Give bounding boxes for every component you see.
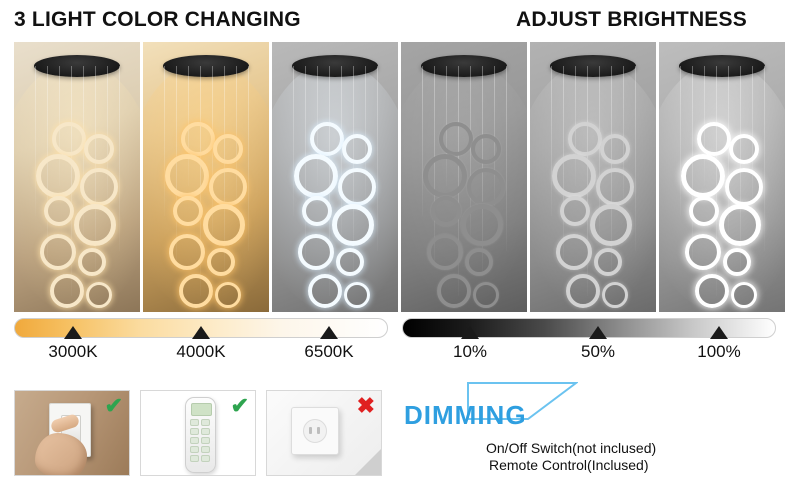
dimming-caption-remote: Remote Control(Inclused) [489,457,649,473]
panel-50-percent [530,42,656,312]
panel-6500k [272,42,398,312]
socket-inner [303,419,327,443]
cct-label-3000k: 3000K [23,342,123,362]
panel-100-percent [659,42,785,312]
hand [35,433,87,476]
brightness-marker-50 [589,326,607,339]
cct-marker-4000k [192,326,210,339]
cct-marker-3000k [64,326,82,339]
check-icon: ✔ [105,395,123,417]
compat-wall-switch: ✔ [14,390,130,476]
panel-10-percent [401,42,527,312]
brightness-label-10: 10% [420,342,520,362]
remote-screen [191,403,212,416]
cct-marker-6500k [320,326,338,339]
panel-4000k [143,42,269,312]
cross-icon: ✖ [357,395,375,417]
panel-3000k [14,42,140,312]
brightness-marker-10 [461,326,479,339]
product-infographic: 3 LIGHT COLOR CHANGING ADJUST BRIGHTNESS [0,0,790,488]
cct-label-6500k: 6500K [279,342,379,362]
page-fold [355,449,381,475]
dimming-caption-switch: On/Off Switch(not inclused) [486,440,656,456]
compat-wall-dimmer: ✖ [266,390,382,476]
photo-strip [14,42,776,312]
brightness-marker-100 [710,326,728,339]
remote-body [185,397,216,473]
heading-color-changing: 3 LIGHT COLOR CHANGING [14,8,301,32]
dimming-title: DIMMING [404,400,527,431]
heading-adjust-brightness: ADJUST BRIGHTNESS [516,8,747,32]
cct-label-4000k: 4000K [151,342,251,362]
check-icon: ✔ [231,395,249,417]
compat-remote-control: ✔ [140,390,256,476]
brightness-label-50: 50% [548,342,648,362]
socket-plate [291,407,339,455]
brightness-label-100: 100% [669,342,769,362]
